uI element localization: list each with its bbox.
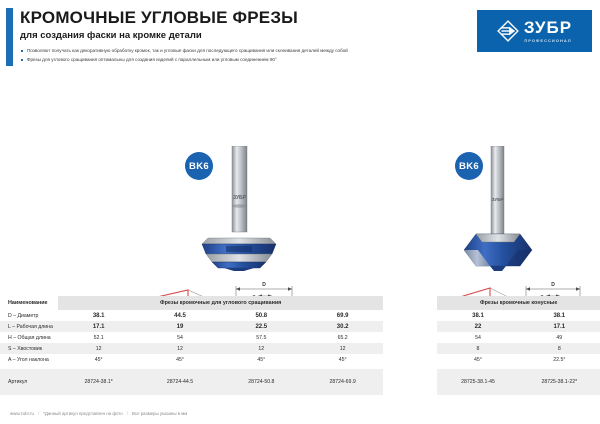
cell-article: 28724-50.8 [221, 369, 302, 395]
cell-value: 69.9 [302, 310, 383, 321]
table-row-angle: A – Угол наклона 45° 45° 45° 45° 45° 22.… [0, 354, 600, 365]
bullet-text: Фрезы для углового сращивания оптимальны… [27, 57, 277, 62]
row-label: L – Рабочая длина [0, 321, 58, 332]
cell-value: 38.1 [519, 310, 600, 321]
footer-units-note: Все размеры указаны в мм [132, 411, 187, 416]
table-gap [383, 354, 437, 365]
feature-bullets: Позволяют получать как декоративную обра… [20, 46, 460, 64]
svg-text:D: D [262, 282, 266, 288]
cell-value: 8 [519, 343, 600, 354]
cell-value: 22 [437, 321, 518, 332]
group-header-corner: Фрезы кромочные для углового сращивания [58, 296, 383, 310]
cell-value: 49 [519, 332, 600, 343]
cell-value: 30.2 [302, 321, 383, 332]
footer-website[interactable]: www.zubr.ru [10, 411, 34, 416]
cell-value: 45° [58, 354, 139, 365]
header-text-block: КРОМОЧНЫЕ УГЛОВЫЕ ФРЕЗЫ для создания фас… [20, 8, 460, 64]
page-title: КРОМОЧНЫЕ УГЛОВЫЕ ФРЕЗЫ [20, 8, 460, 28]
page-header: КРОМОЧНЫЕ УГЛОВЫЕ ФРЕЗЫ для создания фас… [0, 0, 600, 68]
row-label: A – Угол наклона [0, 354, 58, 365]
group-header-conical: Фрезы кромочные конусные [437, 296, 600, 310]
cell-value: 52.1 [58, 332, 139, 343]
row-label: H – Общая длина [0, 332, 58, 343]
svg-text:ЗУБР: ЗУБР [233, 195, 247, 201]
cell-value: 38.1 [437, 310, 518, 321]
footer-separator: / [127, 411, 128, 416]
cell-article: 28724-44.5 [139, 369, 220, 395]
table-gap [383, 369, 437, 395]
cell-value: 44.5 [139, 310, 220, 321]
product-panel-right: BK6 [400, 68, 600, 296]
bullet-dot-icon [21, 59, 23, 61]
row-label: D – Диаметр [0, 310, 58, 321]
product-panels: BK6 [0, 68, 600, 296]
cell-value: 38.1 [58, 310, 139, 321]
cell-article: 28725-38.1-45 [437, 369, 518, 395]
spec-table: Наименование Фрезы кромочные для угловог… [0, 296, 600, 395]
cell-value: 12 [58, 343, 139, 354]
table-row-working-length: L – Рабочая длина 17.1 19 22.5 30.2 22 1… [0, 321, 600, 332]
table-gap [383, 343, 437, 354]
cell-value: 45° [139, 354, 220, 365]
router-bit-image-left: ЗУБР [196, 146, 282, 271]
table-row-article: Артикул 28724-38.1* 28724-44.5 28724-50.… [0, 369, 600, 395]
cell-value: 17.1 [519, 321, 600, 332]
row-label: Артикул [0, 369, 58, 395]
bullet-item: Позволяют получать как декоративную обра… [20, 46, 460, 55]
cell-value: 54 [139, 332, 220, 343]
cell-value: 50.8 [221, 310, 302, 321]
cell-article: 28724-69.9 [302, 369, 383, 395]
bullet-text: Позволяют получать как декоративную обра… [27, 48, 348, 53]
router-bit-image-right: ЗУБР [458, 146, 538, 271]
page-footer: www.zubr.ru / *Данный артикул представле… [0, 402, 600, 424]
cell-value: 12 [302, 343, 383, 354]
specifications-table: Наименование Фрезы кромочные для угловог… [0, 296, 600, 395]
logo-tagline-text: ПРОФЕССИОНАЛ [524, 37, 571, 44]
cell-value: 8 [437, 343, 518, 354]
accent-bar [6, 8, 13, 66]
cell-article: 28724-38.1* [58, 369, 139, 395]
svg-text:ЗУБР: ЗУБР [492, 197, 504, 202]
cell-value: 22.5° [519, 354, 600, 365]
logo-brand-text: ЗУБР [524, 19, 572, 36]
table-gap [383, 321, 437, 332]
footer-separator: / [38, 411, 39, 416]
table-group-header-row: Наименование Фрезы кромочные для угловог… [0, 296, 600, 310]
svg-text:D: D [551, 282, 555, 288]
table-gap [383, 296, 437, 310]
cell-value: 57.5 [221, 332, 302, 343]
brand-logo: ЗУБР ПРОФЕССИОНАЛ [477, 10, 592, 52]
page-subtitle: для создания фаски на кромке детали [20, 30, 460, 42]
table-row-total-length: H – Общая длина 52.1 54 57.5 65.2 54 49 [0, 332, 600, 343]
zubr-emblem-icon [497, 20, 519, 42]
table-gap [383, 332, 437, 343]
cell-value: 45° [437, 354, 518, 365]
row-label: S – Хвостовик [0, 343, 58, 354]
bullet-dot-icon [21, 50, 23, 52]
cell-value: 45° [221, 354, 302, 365]
cell-value: 19 [139, 321, 220, 332]
cell-value: 65.2 [302, 332, 383, 343]
table-row-shank: S – Хвостовик 12 12 12 12 8 8 [0, 343, 600, 354]
product-panel-left: BK6 [0, 68, 400, 296]
cell-value: 54 [437, 332, 518, 343]
cell-value: 45° [302, 354, 383, 365]
cell-article: 28725-38.1-22* [519, 369, 600, 395]
footer-photo-note: *Данный артикул представлен на фото [43, 411, 123, 416]
table-gap [383, 310, 437, 321]
bullet-item: Фрезы для углового сращивания оптимальны… [20, 55, 460, 64]
datasheet-page: КРОМОЧНЫЕ УГЛОВЫЕ ФРЕЗЫ для создания фас… [0, 0, 600, 424]
table-name-header: Наименование [0, 296, 58, 310]
table-row-diameter: D – Диаметр 38.1 44.5 50.8 69.9 38.1 38.… [0, 310, 600, 321]
cell-value: 12 [221, 343, 302, 354]
cell-value: 12 [139, 343, 220, 354]
cell-value: 22.5 [221, 321, 302, 332]
cell-value: 17.1 [58, 321, 139, 332]
